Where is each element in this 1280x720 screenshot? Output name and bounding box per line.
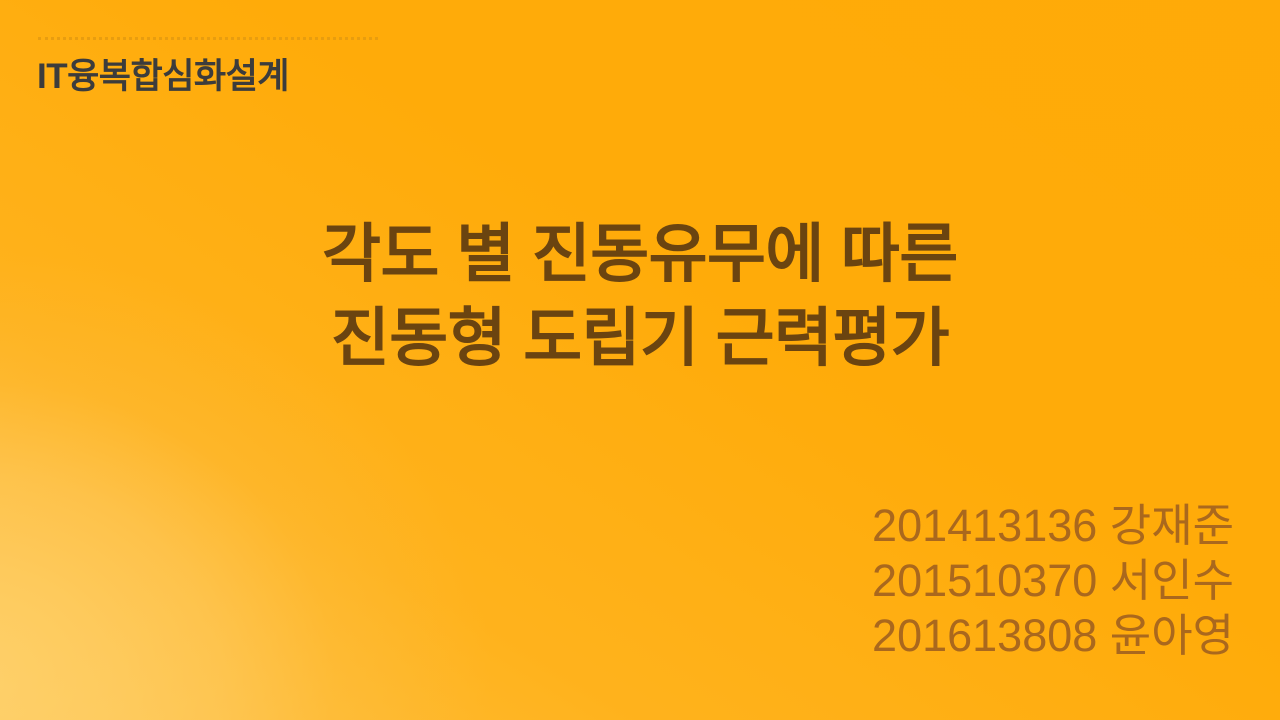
title-line-2: 진동형 도립기 근력평가 [0, 296, 1280, 380]
author-entry-3: 201613808 윤아영 [872, 608, 1234, 663]
author-entry-1: 201413136 강재준 [872, 498, 1234, 553]
course-name-header: IT융복합심화설계 [37, 56, 289, 98]
author-list: 201413136 강재준 201510370 서인수 201613808 윤아… [872, 498, 1234, 663]
author-entry-2: 201510370 서인수 [872, 553, 1234, 608]
header-divider-dotted-line [38, 37, 378, 40]
title-line-1: 각도 별 진동유무에 따른 [0, 212, 1280, 296]
title-slide: IT융복합심화설계 각도 별 진동유무에 따른 진동형 도립기 근력평가 201… [0, 0, 1280, 720]
presentation-title: 각도 별 진동유무에 따른 진동형 도립기 근력평가 [0, 212, 1280, 380]
